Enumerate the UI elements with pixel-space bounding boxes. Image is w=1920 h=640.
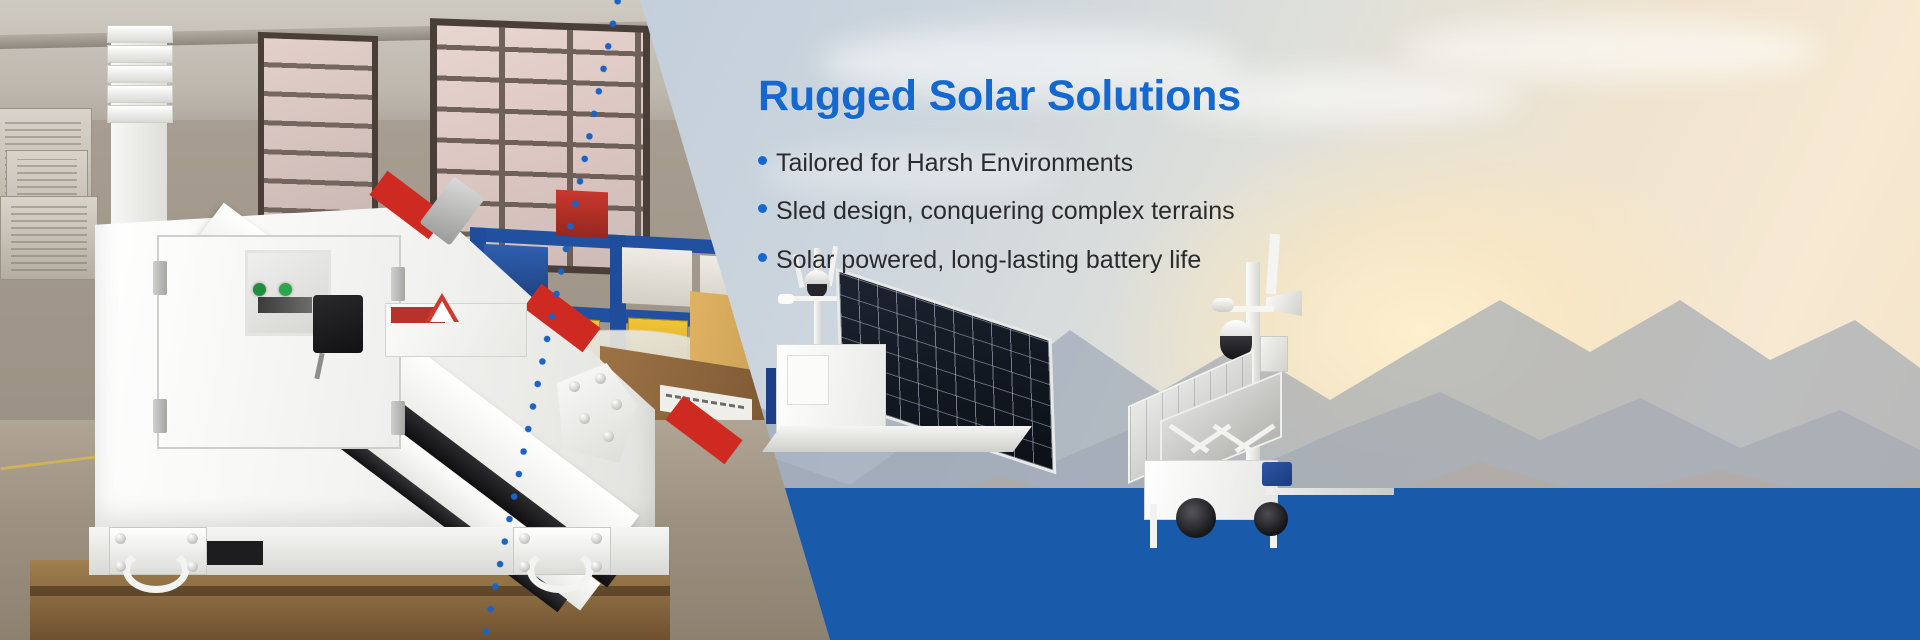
product2-fixed-camera <box>1212 298 1234 312</box>
product1-cabinet <box>776 344 886 432</box>
product2-blue-module <box>1262 462 1292 486</box>
product2-junction-box <box>1260 336 1288 372</box>
feature-text: Solar powered, long-lasting battery life <box>776 245 1201 276</box>
solar-sled-machine <box>95 175 685 575</box>
copy-block: Rugged Solar Solutions Tailored for Hars… <box>758 74 1398 293</box>
lifting-handle-right <box>527 547 593 593</box>
page-title: Rugged Solar Solutions <box>758 74 1398 120</box>
side-cabinet-3 <box>0 196 98 280</box>
hero-banner: Rugged Solar Solutions Tailored for Hars… <box>0 0 1920 640</box>
bullet-dot-icon <box>758 156 767 165</box>
bullet-dot-icon <box>758 253 767 262</box>
feature-text: Tailored for Harsh Environments <box>776 148 1133 179</box>
list-item: Sled design, conquering complex terrains <box>758 196 1398 227</box>
product1-cabinet-door <box>787 355 829 405</box>
product2-wheel-rear <box>1254 502 1288 536</box>
list-item: Solar powered, long-lasting battery life <box>758 245 1398 276</box>
product2-leg-left <box>1150 504 1157 548</box>
lifting-handle-left <box>123 547 189 593</box>
product1-weather-sensor <box>778 294 794 304</box>
product2-trailer-tongue <box>1266 488 1394 495</box>
product1-skid <box>762 426 1032 452</box>
door-hinge-4 <box>391 401 405 435</box>
indicator-lamp-green-1 <box>253 283 266 296</box>
product1-sensor-arm <box>788 296 844 301</box>
door-hinge-1 <box>153 261 167 295</box>
product1-blue-rail <box>766 368 776 424</box>
product2-wheel-front <box>1176 498 1216 538</box>
indicator-lamp-green-2 <box>279 283 292 296</box>
door-hinge-3 <box>391 267 405 301</box>
feature-text: Sled design, conquering complex terrains <box>776 196 1235 227</box>
control-panel <box>313 295 363 353</box>
high-voltage-warning-icon <box>425 293 459 322</box>
bullet-dot-icon <box>758 204 767 213</box>
list-item: Tailored for Harsh Environments <box>758 148 1398 179</box>
feature-list: Tailored for Harsh Environments Sled des… <box>758 148 1398 276</box>
door-hinge-2 <box>153 399 167 433</box>
